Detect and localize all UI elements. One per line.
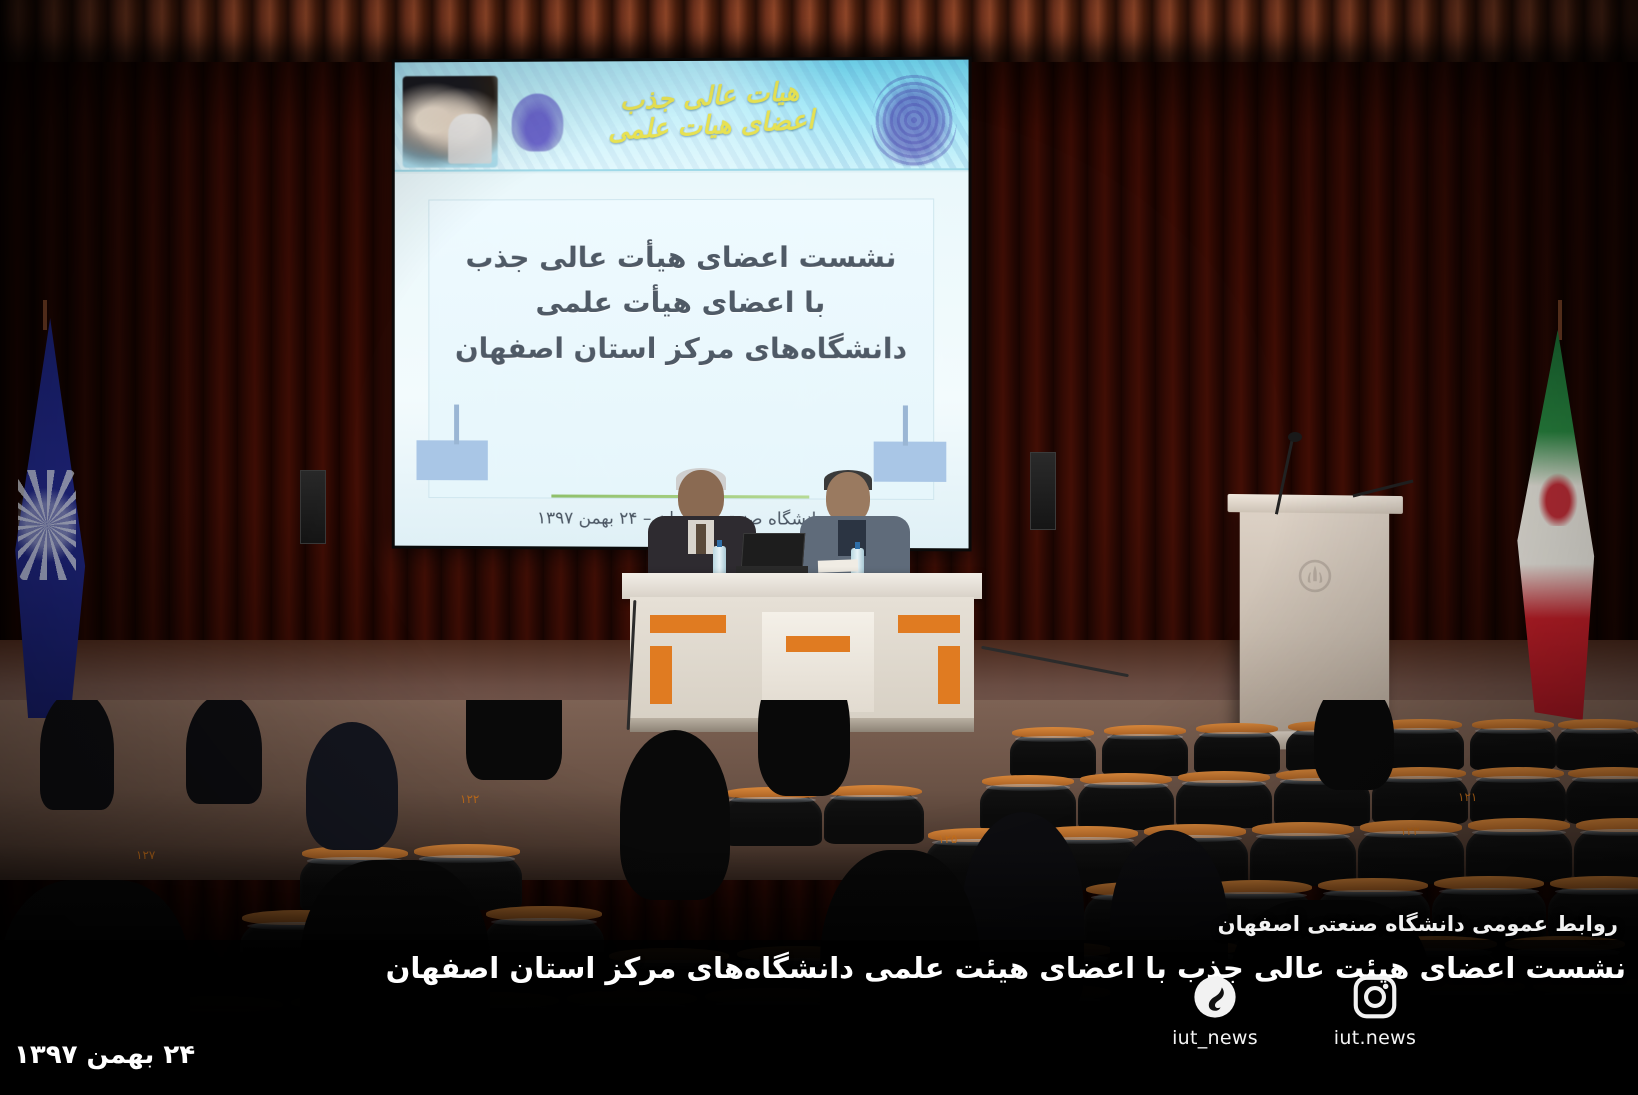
head-table-center-panel xyxy=(762,612,874,712)
auditorium-seat xyxy=(1078,776,1174,830)
social-handle-instagram: iut.news xyxy=(1310,1027,1440,1049)
flag-pole-right xyxy=(1558,300,1562,340)
instagram-icon[interactable] xyxy=(1353,975,1397,1019)
social-media-links: iut_news iut.news xyxy=(1150,975,1470,1085)
social-link-soroush[interactable]: iut_news xyxy=(1150,975,1280,1049)
photo-scene: هیات عالی جذب اعضای هیات علمی نشست اعضای… xyxy=(0,0,1638,1095)
leaders-portrait-image xyxy=(403,76,498,168)
audience-person xyxy=(186,700,262,804)
iut-flag-emblem-icon xyxy=(18,470,76,580)
public-relations-credit: روابط عمومی دانشگاه صنعتی اصفهان xyxy=(1218,912,1618,936)
iran-flag-emblem-icon xyxy=(1536,470,1580,526)
wall-speaker-left xyxy=(300,470,326,544)
slide-header-banner: هیات عالی جذب اعضای هیات علمی xyxy=(395,60,969,172)
auditorium-seat xyxy=(722,790,822,846)
iut-gear-logo-icon xyxy=(1293,553,1337,599)
audience-person xyxy=(306,722,398,850)
auditorium-seat xyxy=(1466,822,1572,882)
audience-person xyxy=(466,700,562,780)
lectern-top xyxy=(1228,494,1403,514)
social-handle-soroush: iut_news xyxy=(1150,1027,1280,1049)
banner-calligraphy-text: هیات عالی جذب اعضای هیات علمی xyxy=(582,76,839,147)
auditorium-seat xyxy=(1470,770,1566,824)
social-link-instagram[interactable]: iut.news xyxy=(1310,975,1440,1049)
seat-number-label: ۱۲۵ xyxy=(938,832,957,846)
slide-title-line-3: دانشگاه‌های مرکز استان اصفهان xyxy=(434,326,928,372)
auditorium-seat xyxy=(1194,726,1280,774)
caption-date: ۲۴ بهمن ۱۳۹۷ xyxy=(14,1040,195,1070)
slide-title-line-1: نشست اعضای هیأت عالی جذب xyxy=(434,235,928,281)
slide-title-line-2: با اعضای هیأت علمی xyxy=(434,280,928,326)
auditorium-seat xyxy=(1556,722,1638,770)
water-bottle-left xyxy=(713,546,726,576)
podium-microphone-icon xyxy=(1288,432,1302,442)
soroush-icon[interactable] xyxy=(1193,975,1237,1019)
auditorium-seat xyxy=(1010,730,1096,778)
documents-on-table xyxy=(818,559,858,572)
speaker-person-left xyxy=(648,470,756,578)
audience-person xyxy=(758,700,850,796)
slide-decoration-left-bar xyxy=(454,405,459,445)
wall-speaker-right xyxy=(1030,452,1056,530)
auditorium-seat xyxy=(1470,722,1556,770)
audience-person xyxy=(1314,700,1394,790)
auditorium-seat xyxy=(1102,728,1188,776)
head-table-top xyxy=(622,573,982,599)
laptop-screen xyxy=(741,533,806,569)
auditorium-seat xyxy=(1250,826,1356,886)
head-table-accent-1 xyxy=(650,615,726,633)
auditorium-seat xyxy=(824,788,924,844)
seat-number-label: ۱۲۱ xyxy=(1458,790,1477,804)
seat-number-label: ۱۲۳ xyxy=(1400,824,1419,838)
auditorium-seat xyxy=(1574,822,1638,882)
speaker-left-tie xyxy=(696,524,706,554)
audience-person xyxy=(40,700,114,810)
iran-flag-emblem-icon xyxy=(512,93,564,151)
seat-number-label: ۱۲۷ xyxy=(136,848,155,862)
jazb-council-logo xyxy=(872,74,957,167)
head-table-accent-4 xyxy=(938,646,960,704)
flag-pole-left xyxy=(43,300,47,330)
audience-person xyxy=(620,730,730,900)
auditorium-seat xyxy=(1566,770,1638,824)
head-table-accent-5 xyxy=(786,636,850,652)
head-table-accent-3 xyxy=(898,615,960,633)
slide-decoration-right-bar xyxy=(903,405,908,445)
slide-decoration-left xyxy=(416,440,487,480)
slide-title: نشست اعضای هیأت عالی جذب با اعضای هیأت ع… xyxy=(434,235,928,372)
seat-number-label: ۱۲۲ xyxy=(460,792,479,806)
auditorium-seat xyxy=(1176,774,1272,828)
head-table-accent-2 xyxy=(650,646,672,704)
